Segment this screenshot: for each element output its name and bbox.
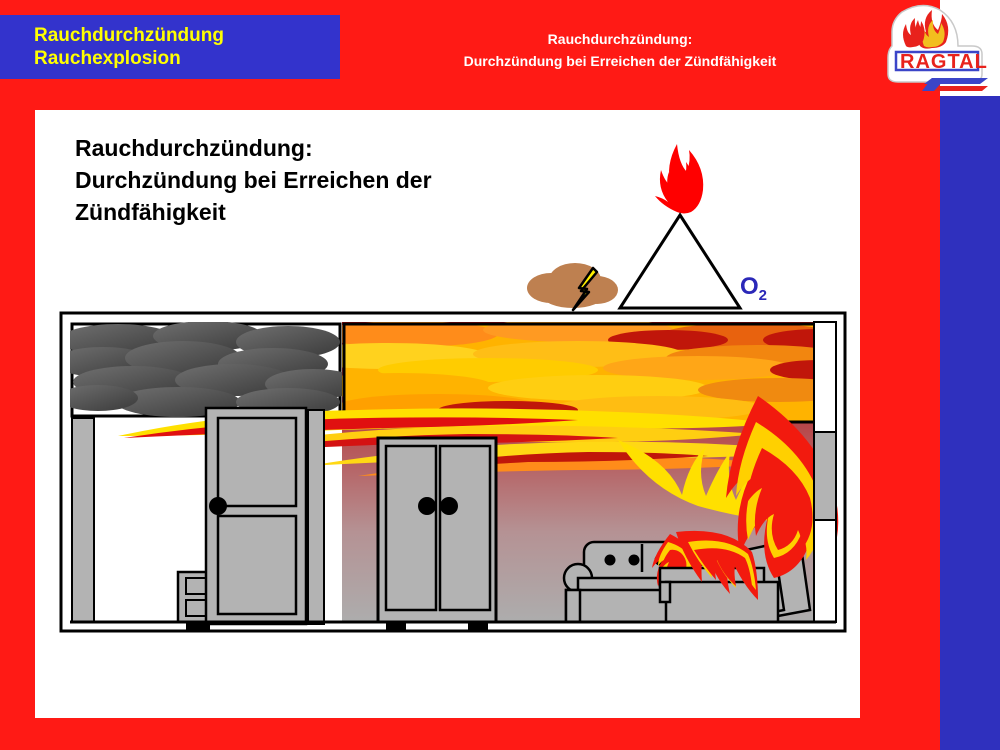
slide-title-line-1: Rauchdurchzündung bbox=[34, 24, 340, 47]
ragtal-logo: RAGTAL bbox=[862, 2, 992, 106]
door-with-knob bbox=[206, 408, 324, 624]
oxygen-label: O2 bbox=[740, 273, 767, 304]
page-title: Rauchdurchzündung: Durchzündung bei Erre… bbox=[75, 132, 555, 228]
compartment-fire-illustration bbox=[58, 310, 848, 635]
heat-flame-icon bbox=[655, 144, 703, 214]
smoke-layer bbox=[58, 321, 361, 417]
page-title-line-1: Rauchdurchzündung: bbox=[75, 132, 555, 164]
door-knob-icon bbox=[209, 497, 227, 515]
wardrobe-knob-left-icon bbox=[418, 497, 436, 515]
page-title-line-3: Zündfähigkeit bbox=[75, 196, 555, 228]
slide-title-box: Rauchdurchzündung Rauchexplosion bbox=[0, 15, 340, 79]
slide-root: Rauchdurchzündung Rauchexplosion Rauchdu… bbox=[0, 0, 1000, 750]
oxygen-label-subscript: 2 bbox=[759, 287, 767, 304]
oxygen-label-text: O bbox=[740, 273, 759, 300]
right-wall-panel bbox=[814, 322, 836, 622]
fuel-cloud-icon bbox=[527, 263, 618, 308]
double-wardrobe bbox=[378, 438, 496, 630]
header-subtitle: Rauchdurchzündung: Durchzündung bei Erre… bbox=[360, 28, 880, 72]
wardrobe-knob-right-icon bbox=[440, 497, 458, 515]
right-blue-band bbox=[940, 96, 1000, 750]
header-subtitle-line-1: Rauchdurchzündung: bbox=[360, 28, 880, 50]
logo-swoosh bbox=[922, 78, 988, 91]
logo-wordmark: RAGTAL bbox=[896, 51, 988, 73]
header-subtitle-line-2: Durchzündung bei Erreichen der Zündfähig… bbox=[360, 50, 880, 72]
page-title-line-2: Durchzündung bei Erreichen der bbox=[75, 164, 555, 196]
left-wall-panel bbox=[72, 418, 94, 622]
content-panel: Rauchdurchzündung: Durchzündung bei Erre… bbox=[35, 110, 860, 718]
logo-wordmark-text: RAGTAL bbox=[900, 51, 988, 73]
slide-title-line-2: Rauchexplosion bbox=[34, 47, 340, 70]
fire-triangle-shape bbox=[620, 215, 740, 308]
